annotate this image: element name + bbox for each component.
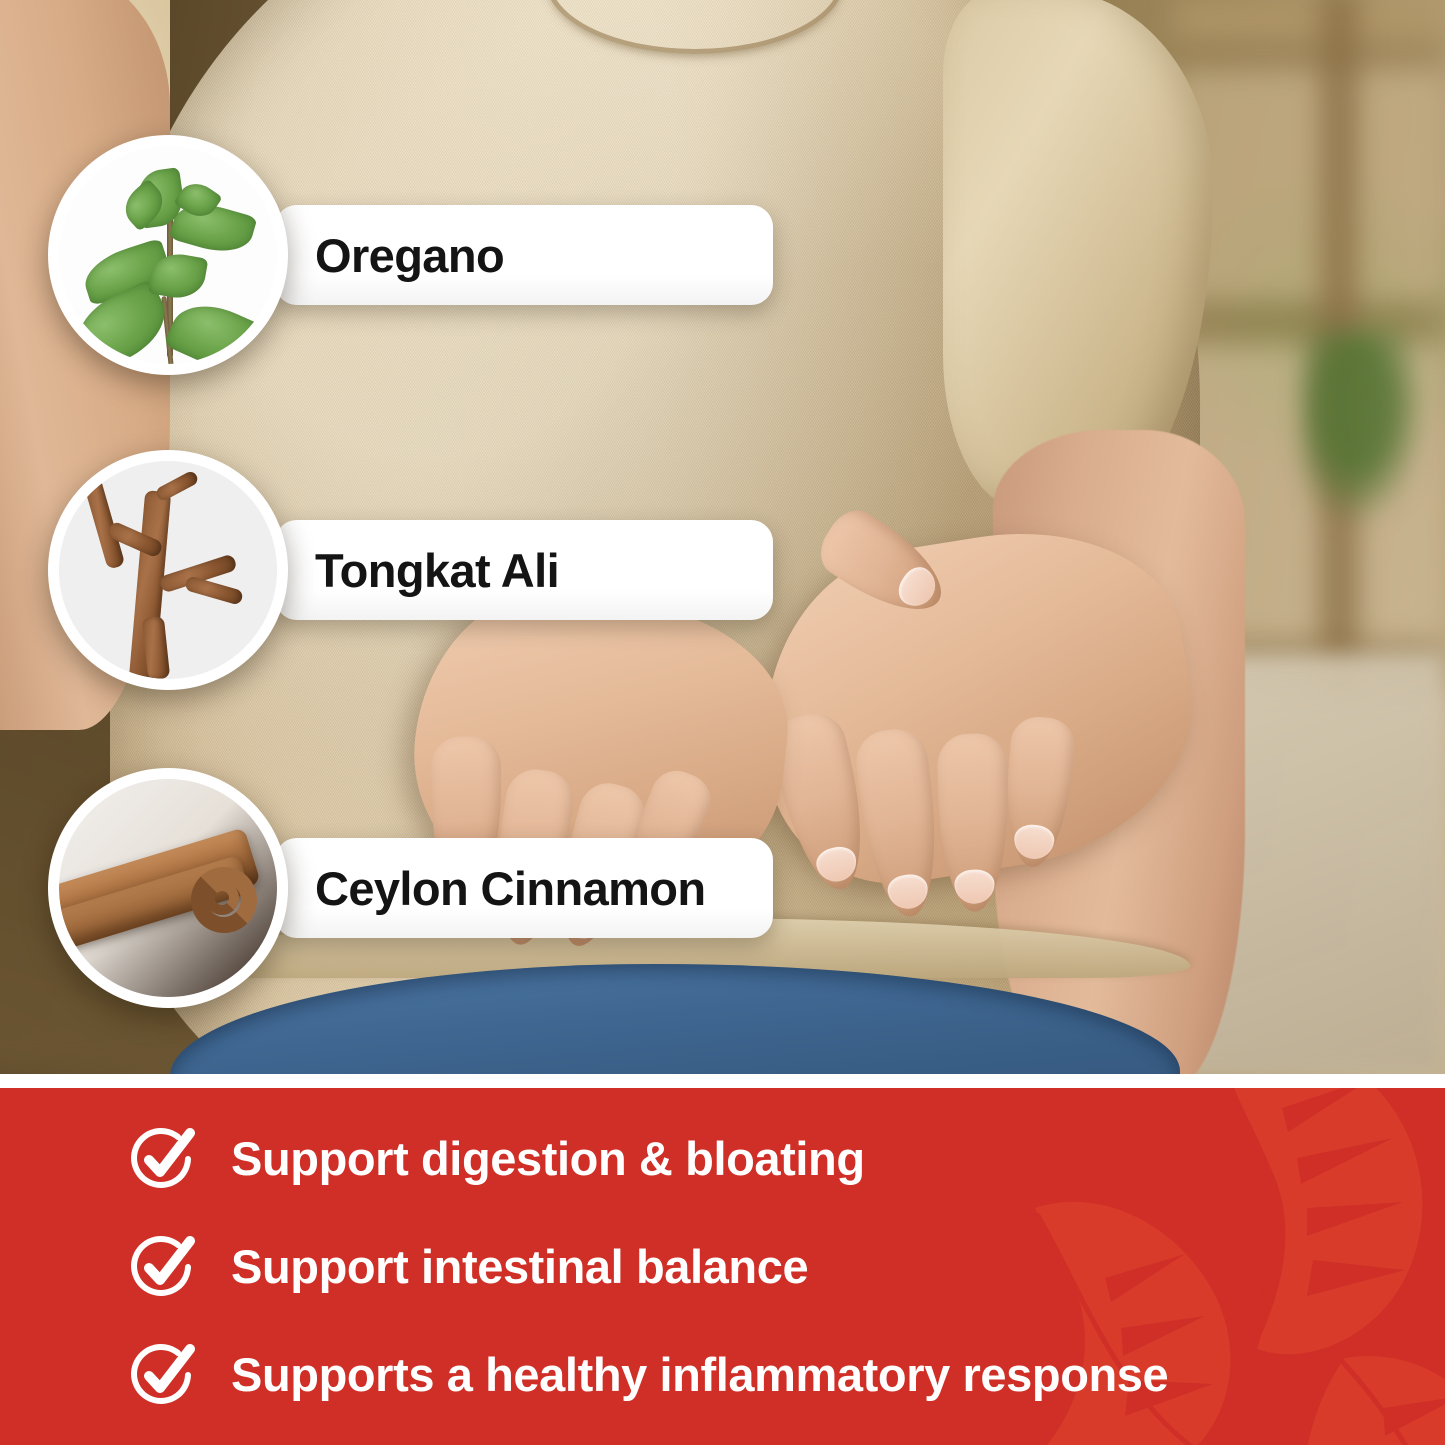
benefit-item: Supports a healthy inflammatory response <box>130 1341 1445 1409</box>
hero-photo: Oregano Tongkat Ali <box>0 0 1445 1074</box>
ingredient-pill-ceylon-cinnamon[interactable]: Ceylon Cinnamon <box>275 838 773 938</box>
fingernail <box>954 869 995 904</box>
ingredient-image-oregano <box>48 135 288 375</box>
ceylon-cinnamon-stick-icon <box>59 779 277 997</box>
benefits-list: Support digestion & bloating Support int… <box>0 1088 1445 1445</box>
oregano-leaf-icon <box>59 146 277 364</box>
finger <box>1000 715 1077 870</box>
benefits-banner: Support digestion & bloating Support int… <box>0 1088 1445 1445</box>
ingredient-label: Ceylon Cinnamon <box>315 861 706 916</box>
ingredient-image-tongkat-ali <box>48 450 288 690</box>
check-circle-icon <box>130 1125 198 1193</box>
check-circle-icon <box>130 1341 198 1409</box>
benefit-label: Support intestinal balance <box>231 1239 808 1294</box>
tongkat-ali-root-icon <box>59 461 277 679</box>
fingernail <box>892 561 942 613</box>
ingredient-pill-tongkat-ali[interactable]: Tongkat Ali <box>275 520 773 620</box>
infographic-canvas: Oregano Tongkat Ali <box>0 0 1445 1445</box>
benefit-label: Support digestion & bloating <box>231 1131 865 1186</box>
ingredient-label: Tongkat Ali <box>315 543 559 598</box>
ingredient-label: Oregano <box>315 228 504 283</box>
benefit-item: Support digestion & bloating <box>130 1125 1445 1193</box>
divider-gap <box>0 1074 1445 1088</box>
fingernail <box>1013 823 1056 860</box>
benefit-item: Support intestinal balance <box>130 1233 1445 1301</box>
plant-icon <box>1301 330 1421 520</box>
check-circle-icon <box>130 1233 198 1301</box>
ingredient-pill-oregano[interactable]: Oregano <box>275 205 773 305</box>
benefit-label: Supports a healthy inflammatory response <box>231 1347 1168 1402</box>
ingredient-image-ceylon-cinnamon <box>48 768 288 1008</box>
